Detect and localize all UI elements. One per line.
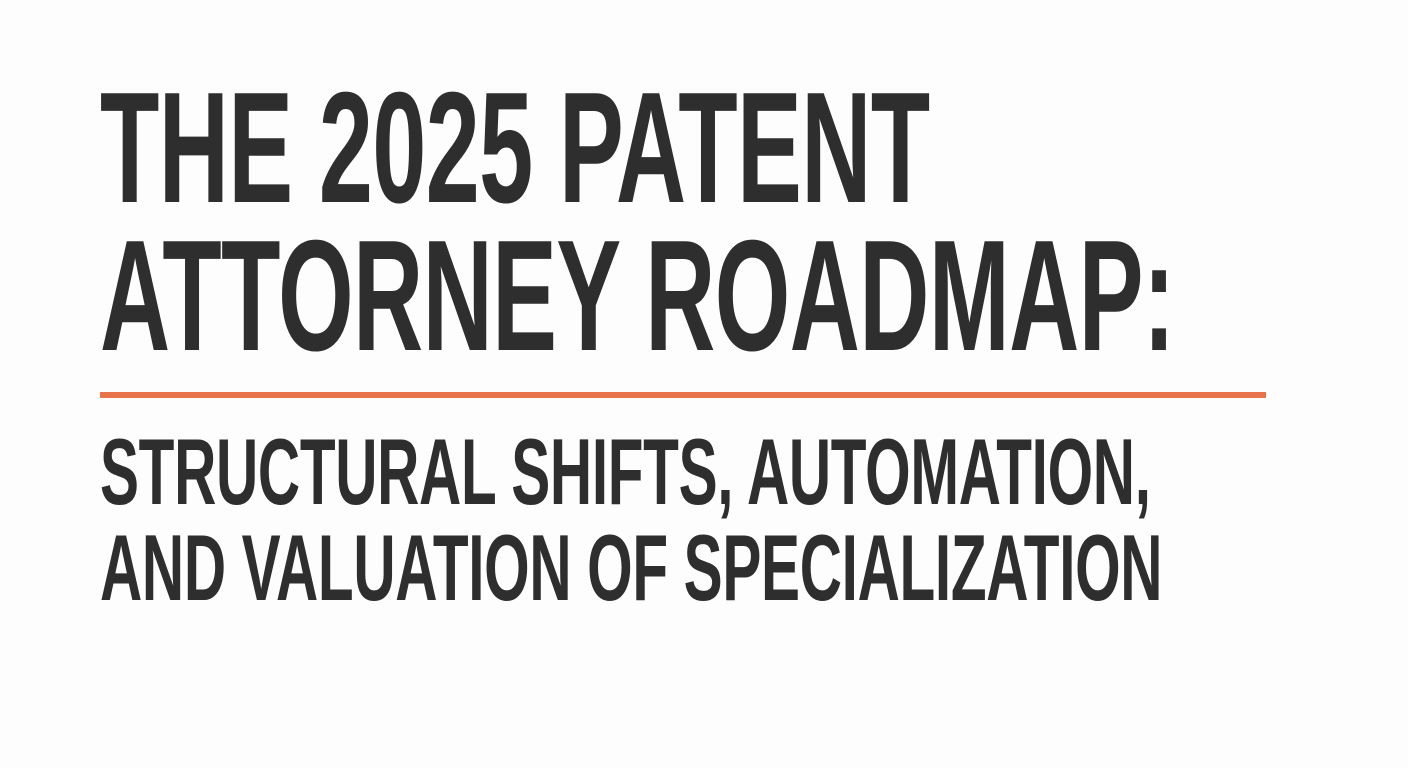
subtitle-block: STRUCTURAL SHIFTS, AUTOMATION, AND VALUA… bbox=[100, 424, 1310, 616]
subtitle-line-1: STRUCTURAL SHIFTS, AUTOMATION, bbox=[100, 424, 853, 520]
headline-line-1: THE 2025 PATENT bbox=[100, 74, 844, 222]
subtitle-line-2: AND VALUATION OF SPECIALIZATION bbox=[100, 520, 853, 616]
headline-line-2: ATTORNEY ROADMAP: bbox=[100, 222, 844, 370]
headline-block: THE 2025 PATENT ATTORNEY ROADMAP: bbox=[100, 74, 1310, 370]
accent-divider-rule bbox=[100, 392, 1266, 398]
page-title: THE 2025 PATENT ATTORNEY ROADMAP: bbox=[100, 74, 1310, 370]
title-slide: THE 2025 PATENT ATTORNEY ROADMAP: STRUCT… bbox=[0, 0, 1408, 768]
page-subtitle: STRUCTURAL SHIFTS, AUTOMATION, AND VALUA… bbox=[100, 424, 1310, 616]
